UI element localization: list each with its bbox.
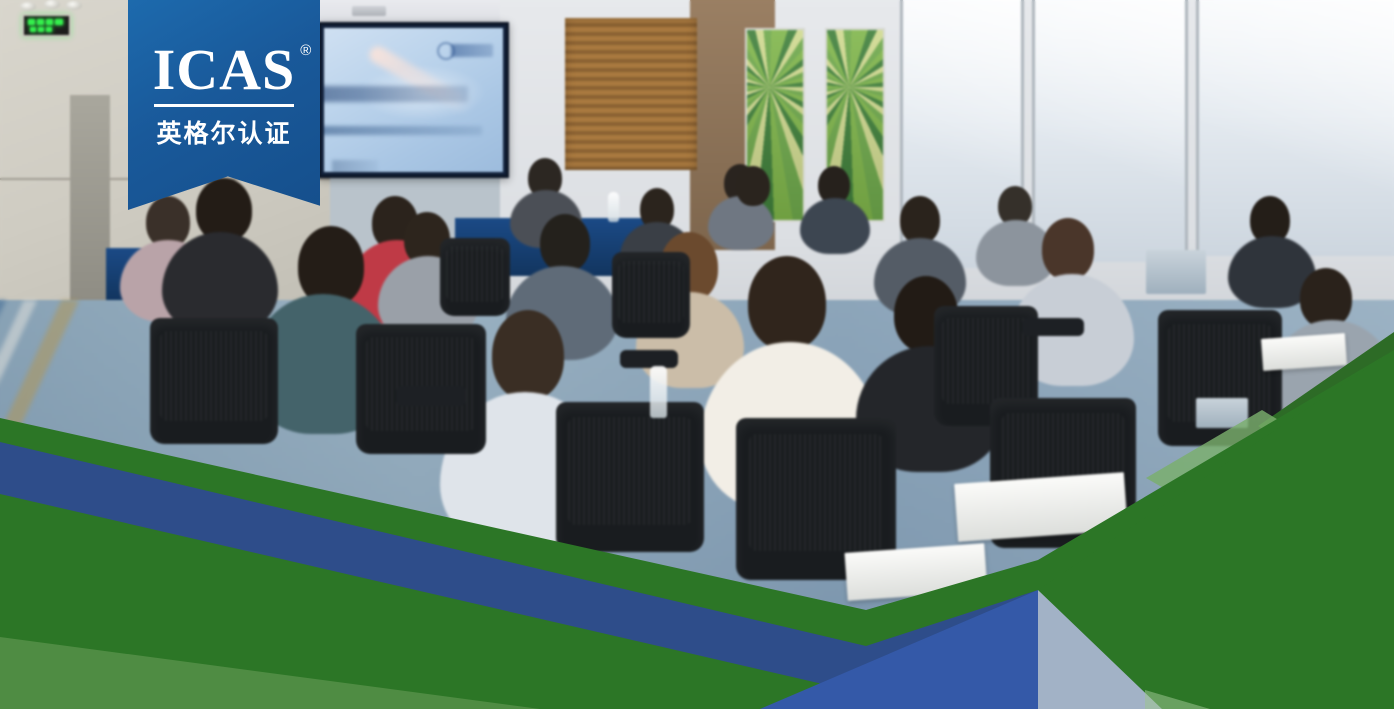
registered-trademark-icon: ®: [300, 44, 312, 59]
banner-root: ICAS® 英格尔认证: [0, 0, 1394, 709]
logo-divider: [154, 104, 294, 107]
logo-chinese-name: 英格尔认证: [128, 114, 320, 150]
logo-wordmark: ICAS®: [153, 42, 296, 99]
logo-wordmark-text: ICAS: [153, 37, 296, 102]
